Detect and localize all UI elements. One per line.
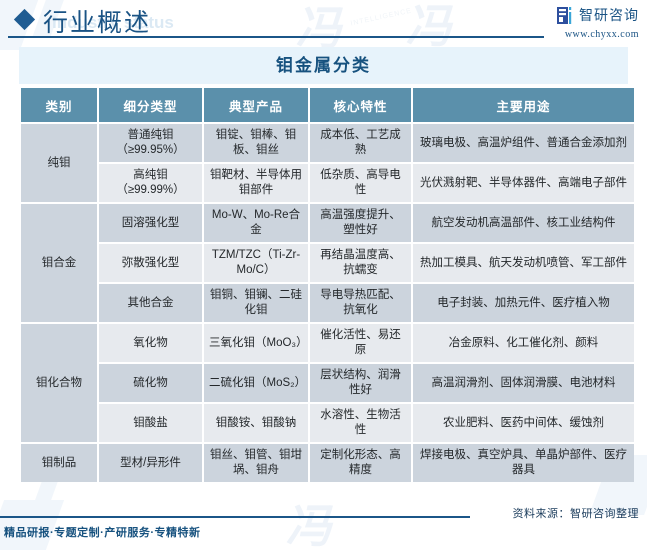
subtype-cell: 其他合金 [99, 284, 202, 322]
category-cell: 钼制品 [21, 444, 97, 482]
table-row: 钼制品型材/异形件钼丝、钼管、钼坩埚、钼舟定制化形态、高精度焊接电极、真空炉具、… [21, 444, 634, 482]
classification-table: 类别 细分类型 典型产品 核心特性 主要用途 纯钼普通纯钼（≥99.95%）钼锭… [19, 86, 636, 484]
feature-cell: 定制化形态、高精度 [310, 444, 411, 482]
table-row: 硫化物二硫化钼（MoS₂）层状结构、润滑性好高温润滑剂、固体润滑膜、电池材料 [21, 364, 634, 402]
feature-cell: 催化活性、易还原 [310, 324, 411, 362]
watermark-bar [30, 480, 59, 515]
table-title: 钼金属分类 [19, 47, 628, 84]
product-cell: 钼靶材、半导体用钼部件 [204, 164, 308, 202]
product-cell: Mo-W、Mo-Re合金 [204, 204, 308, 242]
feature-cell: 低杂质、高导电性 [310, 164, 411, 202]
use-cell: 热加工模具、航天发动机喷管、军工部件 [413, 244, 634, 282]
table-row: 钼酸盐钼酸铵、钼酸钠水溶性、生物活性农业肥料、医药中间体、缓蚀剂 [21, 404, 634, 442]
feature-cell: 高温强度提升、塑性好 [310, 204, 411, 242]
table-header-row: 类别 细分类型 典型产品 核心特性 主要用途 [21, 88, 634, 122]
table-row: 其他合金钼铜、钼镧、二硅化钼导电导热匹配、抗氧化电子封装、加热元件、医疗植入物 [21, 284, 634, 322]
subtype-cell: 钼酸盐 [99, 404, 202, 442]
table-row: 钼化合物氧化物三氧化钼（MoO₃）催化活性、易还原冶金原料、化工催化剂、颜料 [21, 324, 634, 362]
use-cell: 航空发动机高温部件、核工业结构件 [413, 204, 634, 242]
page-header: Industry status 行业概述 智研咨询 www.chyxx.com [0, 0, 647, 42]
product-cell: 钼铜、钼镧、二硅化钼 [204, 284, 308, 322]
subtype-cell: 弥散强化型 [99, 244, 202, 282]
zhiyan-logo-icon [557, 7, 574, 24]
product-cell: 钼丝、钼管、钼坩埚、钼舟 [204, 444, 308, 482]
watermark-logo-icon: 冯 [283, 490, 339, 556]
column-header-product: 典型产品 [204, 88, 308, 122]
product-cell: 三氧化钼（MoO₃） [204, 324, 308, 362]
footer-source: 资料来源：智研咨询整理 [513, 505, 640, 521]
subtype-cell: 高纯钼（≥99.99%） [99, 164, 202, 202]
use-cell: 农业肥料、医药中间体、缓蚀剂 [413, 404, 634, 442]
table-row: 纯钼普通纯钼（≥99.95%）钼锭、钼棒、钼板、钼丝成本低、工艺成熟玻璃电极、高… [21, 124, 634, 162]
column-header-feature: 核心特性 [310, 88, 411, 122]
use-cell: 焊接电极、真空炉具、单晶炉部件、医疗器具 [413, 444, 634, 482]
column-header-subtype: 细分类型 [99, 88, 202, 122]
subtype-cell: 硫化物 [99, 364, 202, 402]
use-cell: 冶金原料、化工催化剂、颜料 [413, 324, 634, 362]
use-cell: 玻璃电极、高温炉组件、普通合金添加剂 [413, 124, 634, 162]
table-row: 弥散强化型TZM/TZC（Ti-Zr-Mo/C）再结晶温度高、抗蠕变热加工模具、… [21, 244, 634, 282]
feature-cell: 成本低、工艺成熟 [310, 124, 411, 162]
product-cell: 钼酸铵、钼酸钠 [204, 404, 308, 442]
subtype-cell: 型材/异形件 [99, 444, 202, 482]
category-cell: 纯钼 [21, 124, 97, 202]
feature-cell: 层状结构、润滑性好 [310, 364, 411, 402]
column-header-use: 主要用途 [413, 88, 634, 122]
use-cell: 光伏溅射靶、半导体器件、高端电子部件 [413, 164, 634, 202]
footer-divider [0, 516, 470, 518]
brand-name: 智研咨询 [579, 5, 639, 25]
table-body: 纯钼普通纯钼（≥99.95%）钼锭、钼棒、钼板、钼丝成本低、工艺成熟玻璃电极、高… [21, 124, 634, 482]
product-cell: 二硫化钼（MoS₂） [204, 364, 308, 402]
category-cell: 钼化合物 [21, 324, 97, 442]
use-cell: 电子封装、加热元件、医疗植入物 [413, 284, 634, 322]
category-cell: 钼合金 [21, 204, 97, 322]
diamond-icon [14, 9, 35, 30]
footer-slogan: 精品研报·专题定制·产研服务·专精特新 [4, 524, 201, 540]
feature-cell: 水溶性、生物活性 [310, 404, 411, 442]
product-cell: TZM/TZC（Ti-Zr-Mo/C） [204, 244, 308, 282]
brand-block: 智研咨询 www.chyxx.com [557, 5, 639, 40]
brand-url[interactable]: www.chyxx.com [557, 29, 639, 40]
use-cell: 高温润滑剂、固体润滑膜、电池材料 [413, 364, 634, 402]
subtype-cell: 普通纯钼（≥99.95%） [99, 124, 202, 162]
table-row: 钼合金固溶强化型Mo-W、Mo-Re合金高温强度提升、塑性好航空发动机高温部件、… [21, 204, 634, 242]
page-title: 行业概述 [43, 3, 151, 39]
column-header-category: 类别 [21, 88, 97, 122]
feature-cell: 再结晶温度高、抗蠕变 [310, 244, 411, 282]
product-cell: 钼锭、钼棒、钼板、钼丝 [204, 124, 308, 162]
subtype-cell: 固溶强化型 [99, 204, 202, 242]
feature-cell: 导电导热匹配、抗氧化 [310, 284, 411, 322]
table-row: 高纯钼（≥99.99%）钼靶材、半导体用钼部件低杂质、高导电性光伏溅射靶、半导体… [21, 164, 634, 202]
classification-table-wrap: 钼金属分类 类别 细分类型 典型产品 核心特性 主要用途 纯钼普通纯钼（≥99.… [19, 47, 628, 484]
subtype-cell: 氧化物 [99, 324, 202, 362]
